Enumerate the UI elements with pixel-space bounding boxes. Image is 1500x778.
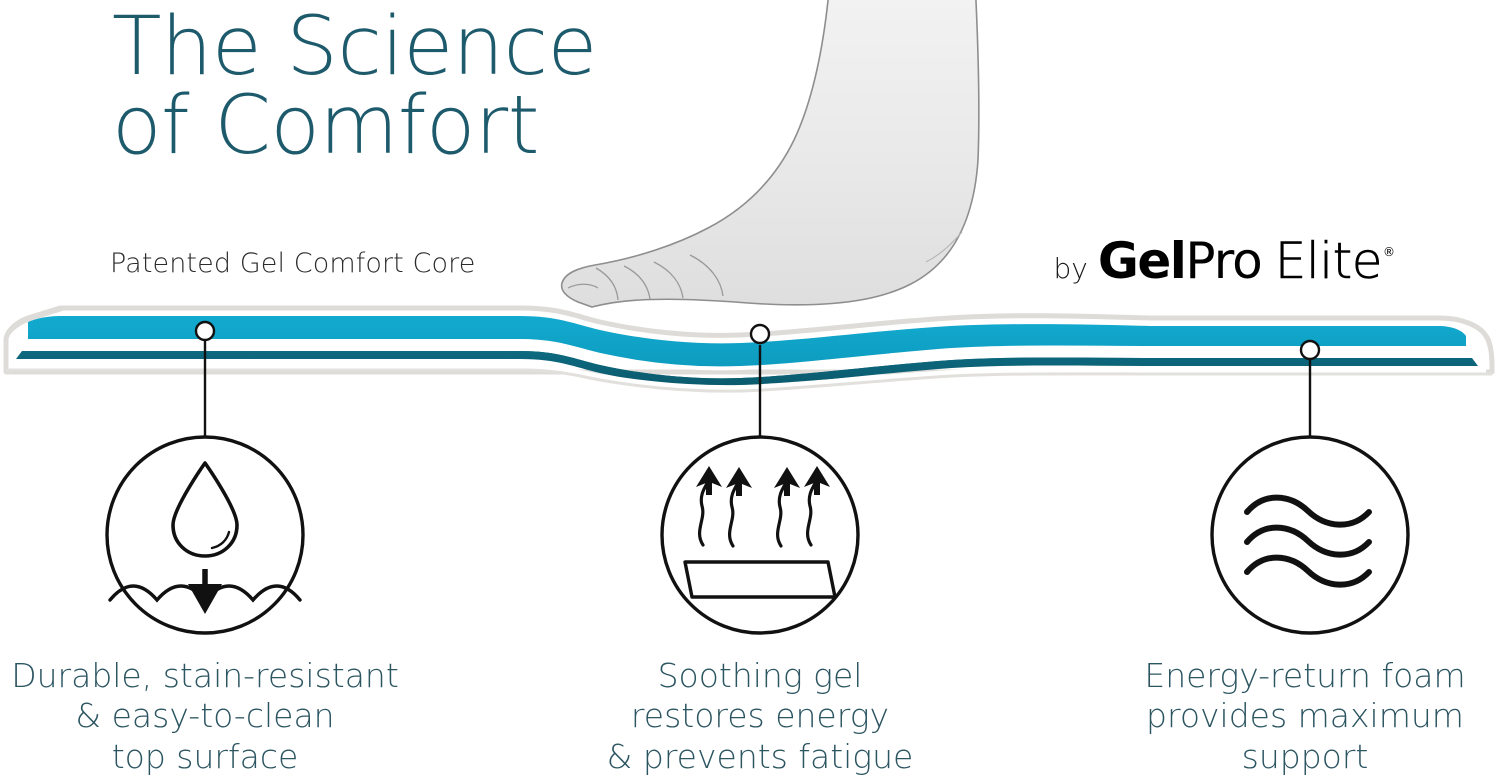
feature-caption-3: Energy-return foam provides maximum supp…: [1105, 656, 1500, 777]
registered-trademark-icon: ®: [1383, 245, 1395, 259]
feature-caption-1: Durable, stain-resistant & easy-to-clean…: [0, 656, 410, 777]
feature-caption-2: Soothing gel restores energy & prevents …: [560, 656, 960, 777]
feature-icon-1[interactable]: [107, 437, 303, 633]
brand-gel-text: Gel: [1098, 232, 1186, 290]
brand-by-text: by: [1053, 252, 1087, 285]
brand-wordmark: Gel Pro Elite ®: [1098, 232, 1394, 290]
brand-logo: by Gel Pro Elite ®: [1053, 232, 1394, 290]
callout-lines: [196, 322, 1319, 437]
water-droplet-absorb-icon: [110, 463, 300, 614]
infographic-canvas: The Science of Comfort Patented Gel Comf…: [0, 0, 1500, 778]
core-label: Patented Gel Comfort Core: [110, 248, 475, 279]
feature-icon-2[interactable]: [662, 437, 858, 633]
flex-waves-icon: [1247, 498, 1369, 585]
page-title: The Science of Comfort: [112, 8, 752, 167]
mat-cross-section: [6, 308, 1492, 391]
brand-pro-text: Pro: [1185, 232, 1261, 290]
brand-elite-text: Elite: [1275, 232, 1382, 290]
callout-dot-foam-layer: [1301, 341, 1319, 359]
icon-circle-2: [662, 437, 858, 633]
icon-circle-3: [1212, 437, 1408, 633]
callout-dot-top-surface: [196, 322, 214, 340]
feature-icon-3[interactable]: [1212, 437, 1408, 633]
icon-circle-1: [107, 437, 303, 633]
rising-energy-arrows-icon: [685, 466, 835, 597]
callout-dot-gel-layer: [751, 325, 769, 343]
